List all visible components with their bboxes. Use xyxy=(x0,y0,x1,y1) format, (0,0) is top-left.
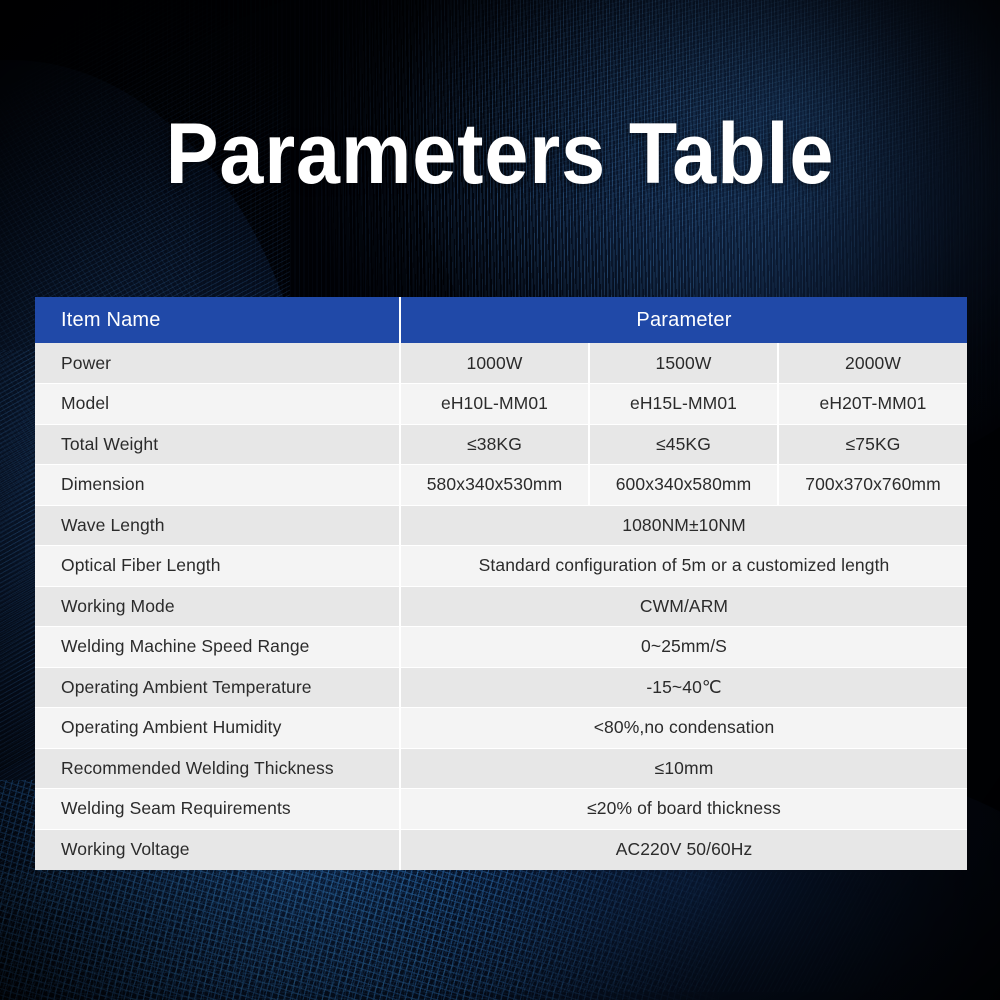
row-value: eH15L-MM01 xyxy=(589,384,778,425)
row-value: ≤75KG xyxy=(778,424,967,465)
parameters-table: Item Name Parameter Power1000W1500W2000W… xyxy=(35,297,967,870)
row-label: Working Voltage xyxy=(35,829,400,870)
table-row: Wave Length1080NM±10NM xyxy=(35,505,967,546)
parameters-table-container: Item Name Parameter Power1000W1500W2000W… xyxy=(35,297,967,870)
table-body: Power1000W1500W2000WModeleH10L-MM01eH15L… xyxy=(35,343,967,870)
row-label: Welding Machine Speed Range xyxy=(35,627,400,668)
row-value: ≤45KG xyxy=(589,424,778,465)
table-row: Recommended Welding Thickness≤10mm xyxy=(35,748,967,789)
row-value: 600x340x580mm xyxy=(589,465,778,506)
row-value-spanning: CWM/ARM xyxy=(400,586,967,627)
row-value: ≤38KG xyxy=(400,424,589,465)
table-row: Welding Machine Speed Range0~25mm/S xyxy=(35,627,967,668)
row-value: 1500W xyxy=(589,343,778,384)
table-row: ModeleH10L-MM01eH15L-MM01eH20T-MM01 xyxy=(35,384,967,425)
row-label: Recommended Welding Thickness xyxy=(35,748,400,789)
row-label: Dimension xyxy=(35,465,400,506)
row-label: Power xyxy=(35,343,400,384)
table-row: Working VoltageAC220V 50/60Hz xyxy=(35,829,967,870)
table-header-row: Item Name Parameter xyxy=(35,297,967,343)
row-value: 2000W xyxy=(778,343,967,384)
row-value: eH20T-MM01 xyxy=(778,384,967,425)
row-value-spanning: -15~40℃ xyxy=(400,667,967,708)
row-value: 1000W xyxy=(400,343,589,384)
row-label: Model xyxy=(35,384,400,425)
table-row: Optical Fiber LengthStandard configurati… xyxy=(35,546,967,587)
table-row: Power1000W1500W2000W xyxy=(35,343,967,384)
table-row: Welding Seam Requirements≤20% of board t… xyxy=(35,789,967,830)
row-value: eH10L-MM01 xyxy=(400,384,589,425)
row-label: Operating Ambient Humidity xyxy=(35,708,400,749)
row-value-spanning: 1080NM±10NM xyxy=(400,505,967,546)
table-row: Total Weight≤38KG≤45KG≤75KG xyxy=(35,424,967,465)
row-value: 700x370x760mm xyxy=(778,465,967,506)
row-label: Total Weight xyxy=(35,424,400,465)
row-value-spanning: ≤10mm xyxy=(400,748,967,789)
row-value-spanning: AC220V 50/60Hz xyxy=(400,829,967,870)
table-row: Working ModeCWM/ARM xyxy=(35,586,967,627)
column-header-parameter: Parameter xyxy=(400,297,967,343)
page-title: Parameters Table xyxy=(40,104,960,204)
row-label: Welding Seam Requirements xyxy=(35,789,400,830)
row-value-spanning: Standard configuration of 5m or a custom… xyxy=(400,546,967,587)
column-header-item-name: Item Name xyxy=(35,297,400,343)
row-value: 580x340x530mm xyxy=(400,465,589,506)
row-value-spanning: 0~25mm/S xyxy=(400,627,967,668)
row-label: Operating Ambient Temperature xyxy=(35,667,400,708)
table-row: Dimension580x340x530mm600x340x580mm700x3… xyxy=(35,465,967,506)
table-header: Item Name Parameter xyxy=(35,297,967,343)
table-row: Operating Ambient Humidity<80%,no conden… xyxy=(35,708,967,749)
row-value-spanning: ≤20% of board thickness xyxy=(400,789,967,830)
row-value-spanning: <80%,no condensation xyxy=(400,708,967,749)
row-label: Wave Length xyxy=(35,505,400,546)
row-label: Optical Fiber Length xyxy=(35,546,400,587)
table-row: Operating Ambient Temperature-15~40℃ xyxy=(35,667,967,708)
row-label: Working Mode xyxy=(35,586,400,627)
